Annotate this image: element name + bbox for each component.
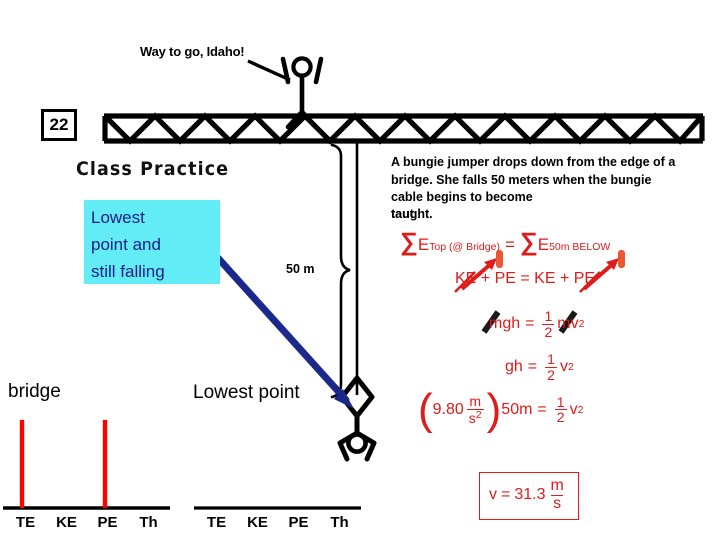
equals-sign-3: = (525, 315, 534, 333)
answer-value: 31.3 (514, 486, 545, 504)
velocity-exponent-5: 2 (578, 404, 584, 416)
chart-lowest-point-title: Lowest point (193, 382, 300, 404)
close-paren: ) (487, 394, 502, 426)
equals-sign-5: = (537, 401, 546, 419)
gravity-value: 9.80 (433, 401, 464, 419)
slide-canvas: Way to go, Idaho! 22 Class Practice Lowe… (0, 0, 720, 540)
answer-variable: v (489, 486, 497, 504)
note-line-3: still falling (84, 258, 220, 285)
chart2-label-th: Th (319, 514, 360, 531)
velocity-symbol-5: v (570, 401, 578, 419)
height-label: 50 m (286, 262, 315, 276)
chart2-label-pe: PE (278, 514, 319, 531)
equals-sign-4: = (528, 358, 537, 376)
note-line-2: point and (84, 231, 220, 258)
chart1-label-ke: KE (46, 514, 87, 531)
equation-line-2: KE + PE = KE + PE (455, 270, 595, 288)
problem-statement: A bungie jumper drops down from the edge… (391, 154, 681, 207)
equation-line-1: ∑ E Top (@ Bridge) = ∑ E 50m BELOW (400, 230, 610, 255)
problem-word-correction: taut. (391, 207, 417, 221)
gh-term: gh (502, 315, 520, 333)
equation-line-4: gh = 1 2 v 2 (505, 352, 574, 382)
chart1-label-te: TE (5, 514, 46, 531)
velocity-symbol-4: v (560, 358, 568, 376)
energy-subscript-right: 50m BELOW (549, 241, 610, 253)
one-half-fraction-4: 1 2 (545, 352, 557, 382)
truss-bridge (104, 116, 703, 141)
speech-callout-text: Way to go, Idaho! (140, 44, 244, 59)
one-half-fraction-3: 1 2 (542, 309, 554, 339)
equation-line-5: ( 9.80 m s2 ) 50m = 1 2 v 2 (418, 394, 583, 426)
chart1-label-pe: PE (87, 514, 128, 531)
height-value: 50m (501, 401, 532, 419)
slide-number-badge: 22 (41, 109, 77, 141)
one-half-fraction-5: 1 2 (555, 395, 567, 425)
energy-symbol-left: E (418, 235, 429, 255)
gravity-unit-fraction: m s2 (467, 394, 484, 425)
chart1-label-th: Th (128, 514, 169, 531)
chart2-label-te: TE (196, 514, 237, 531)
answer-unit-fraction: m s (548, 478, 565, 513)
velocity-exponent-3: 2 (579, 318, 585, 330)
velocity-exponent-4: 2 (568, 361, 574, 373)
note-line-1: Lowest (84, 200, 220, 231)
sigma-right: ∑ (520, 230, 538, 255)
equation-line-3: m gh = 1 2 m v 2 (489, 309, 584, 339)
height-brace (332, 145, 350, 397)
mass-symbol-right: m (557, 315, 570, 333)
chart-bridge-title: bridge (8, 381, 61, 403)
answer-equals: = (501, 486, 510, 504)
equals-sign-1: = (505, 235, 515, 255)
chart2-label-ke: KE (237, 514, 278, 531)
mass-symbol-left: m (489, 315, 502, 333)
velocity-symbol-3: v (571, 315, 579, 333)
open-paren: ( (418, 394, 433, 426)
chart-lowest-point-axis-labels: TE KE PE Th (196, 514, 361, 531)
gh-term-4: gh (505, 358, 523, 376)
sigma-left: ∑ (400, 230, 418, 255)
annotation-tick-right (618, 250, 625, 268)
energy-symbol-right: E (538, 235, 549, 255)
answer-box: v = 31.3 m s (479, 472, 579, 520)
note-callout-box: Lowest point and still falling (84, 200, 220, 284)
energy-subscript-left: Top (@ Bridge) (429, 241, 500, 253)
chart-bridge-axis-labels: TE KE PE Th (5, 514, 170, 531)
page-title: Class Practice (76, 158, 229, 180)
